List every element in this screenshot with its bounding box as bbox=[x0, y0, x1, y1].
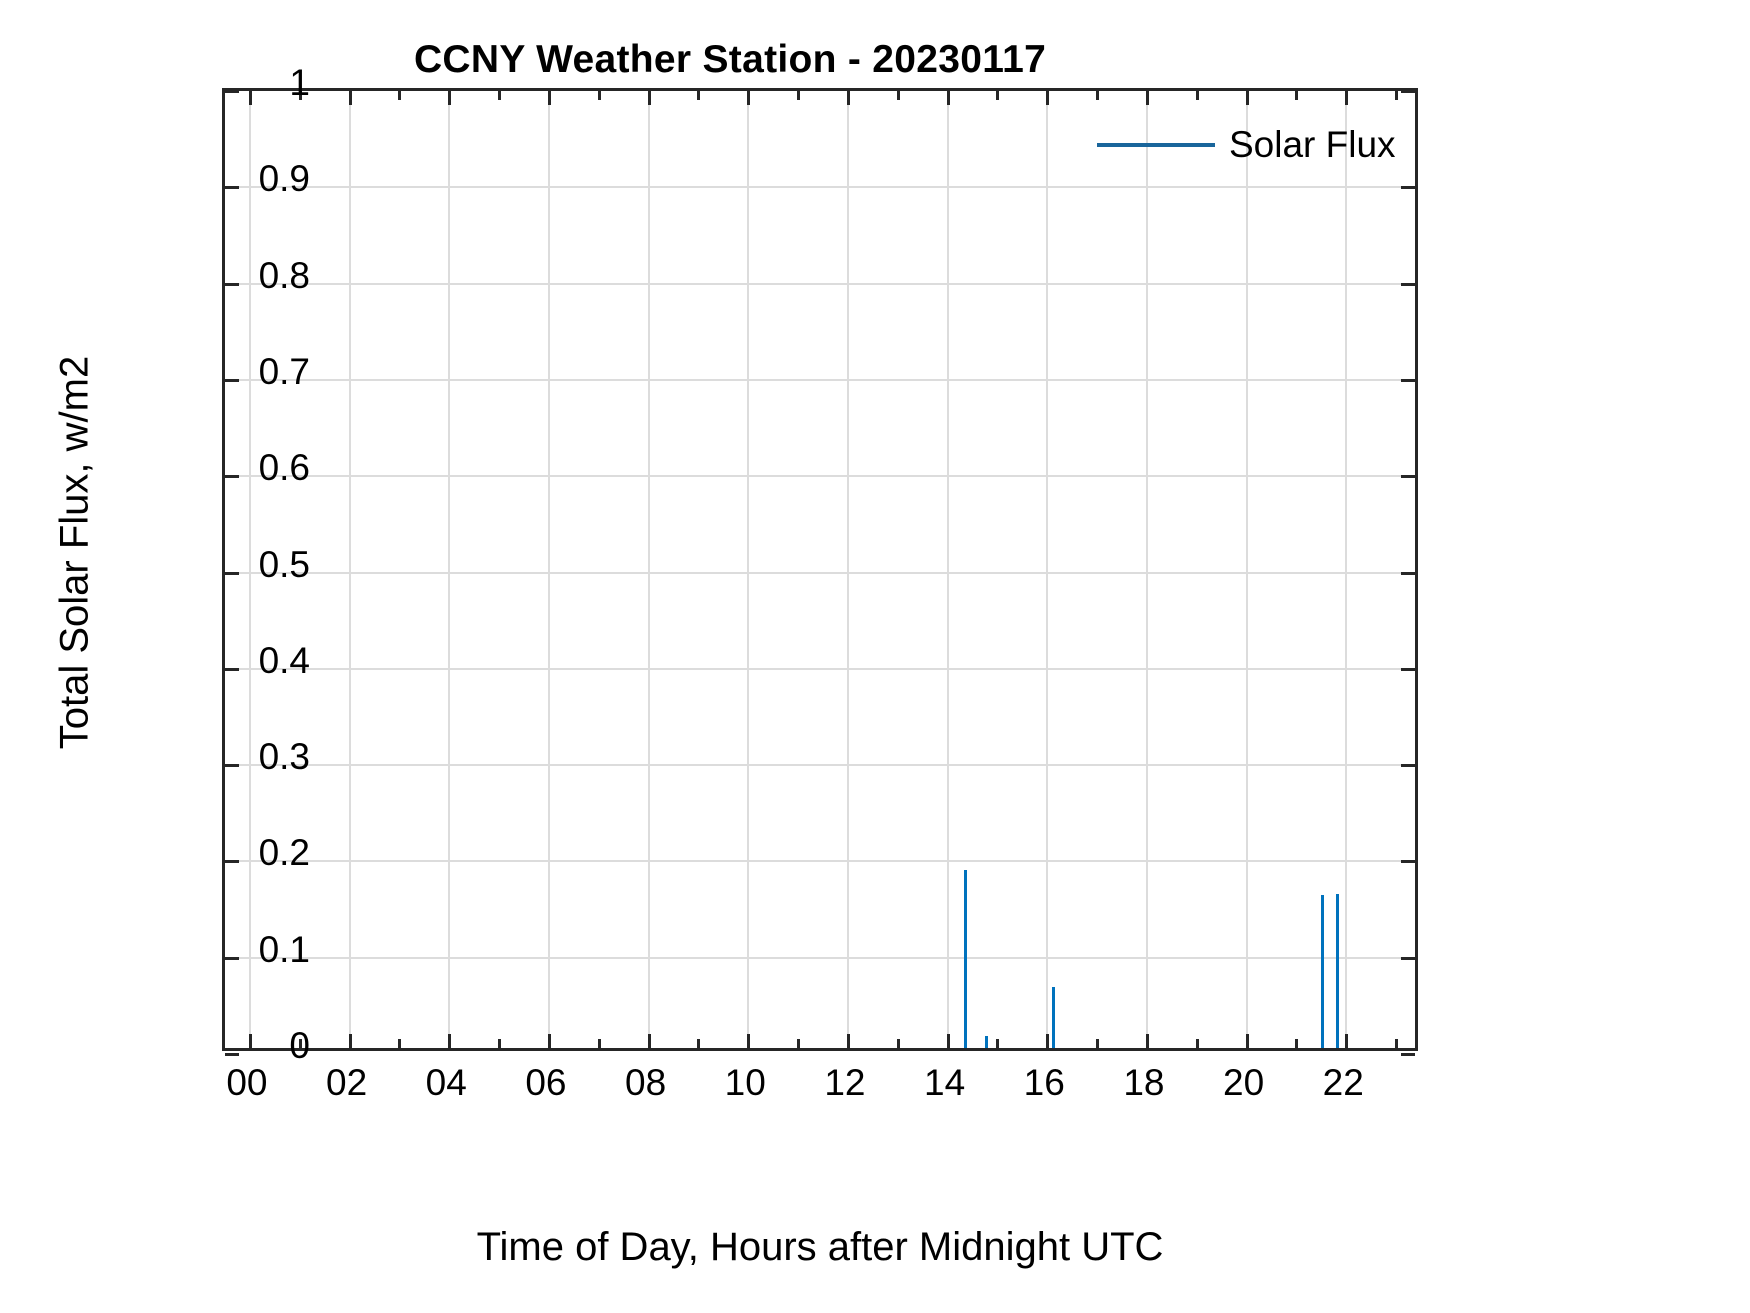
x-axis-tick-label: 18 bbox=[1123, 1062, 1164, 1104]
y-axis-title: Total Solar Flux, w/m2 bbox=[53, 143, 98, 963]
y-axis-tick-label: 0.6 bbox=[259, 447, 310, 489]
data-series-solar-flux bbox=[225, 91, 1415, 1048]
legend-label-solar-flux: Solar Flux bbox=[1229, 124, 1396, 166]
y-axis-tick-label: 0.8 bbox=[259, 255, 310, 297]
y-axis-tick-label: 0.1 bbox=[259, 929, 310, 971]
x-axis-title: Time of Day, Hours after Midnight UTC bbox=[222, 1225, 1418, 1270]
x-axis-tick-label: 02 bbox=[326, 1062, 367, 1104]
page-title: CCNY Weather Station - 20230117 bbox=[0, 38, 1605, 82]
x-axis-tick-label: 14 bbox=[924, 1062, 965, 1104]
y-axis-tick-label: 0.9 bbox=[259, 158, 310, 200]
data-spike bbox=[985, 1036, 988, 1048]
y-axis-tick bbox=[225, 1053, 239, 1056]
data-spike bbox=[964, 870, 967, 1048]
y-axis-tick-label: 0.4 bbox=[259, 640, 310, 682]
plot-area bbox=[222, 88, 1418, 1051]
y-axis-tick-label: 0.5 bbox=[259, 544, 310, 586]
legend-line-solar-flux bbox=[1097, 143, 1215, 147]
y-axis-tick-label: 0.3 bbox=[259, 736, 310, 778]
y-axis-tick-label: 0.2 bbox=[259, 832, 310, 874]
x-axis-tick-label: 12 bbox=[824, 1062, 865, 1104]
y-axis-tick-label: 0.7 bbox=[259, 351, 310, 393]
x-axis-tick-label: 00 bbox=[226, 1062, 267, 1104]
y-axis-tick-label: 0 bbox=[289, 1025, 310, 1067]
x-axis-tick-label: 08 bbox=[625, 1062, 666, 1104]
data-spike bbox=[1052, 987, 1055, 1048]
y-axis-tick-right bbox=[1401, 1053, 1415, 1056]
x-axis-tick-label: 22 bbox=[1323, 1062, 1364, 1104]
x-axis-tick-label: 04 bbox=[426, 1062, 467, 1104]
x-axis-tick-label: 06 bbox=[525, 1062, 566, 1104]
data-spike bbox=[1321, 895, 1324, 1048]
y-axis-tick-label: 1 bbox=[289, 62, 310, 104]
legend: Solar Flux bbox=[1097, 124, 1396, 166]
x-axis-tick-label: 16 bbox=[1024, 1062, 1065, 1104]
data-spike bbox=[1336, 894, 1339, 1048]
figure-canvas: CCNY Weather Station - 20230117 00.10.20… bbox=[0, 0, 1750, 1313]
x-axis-tick-label: 20 bbox=[1223, 1062, 1264, 1104]
x-axis-tick-label: 10 bbox=[725, 1062, 766, 1104]
